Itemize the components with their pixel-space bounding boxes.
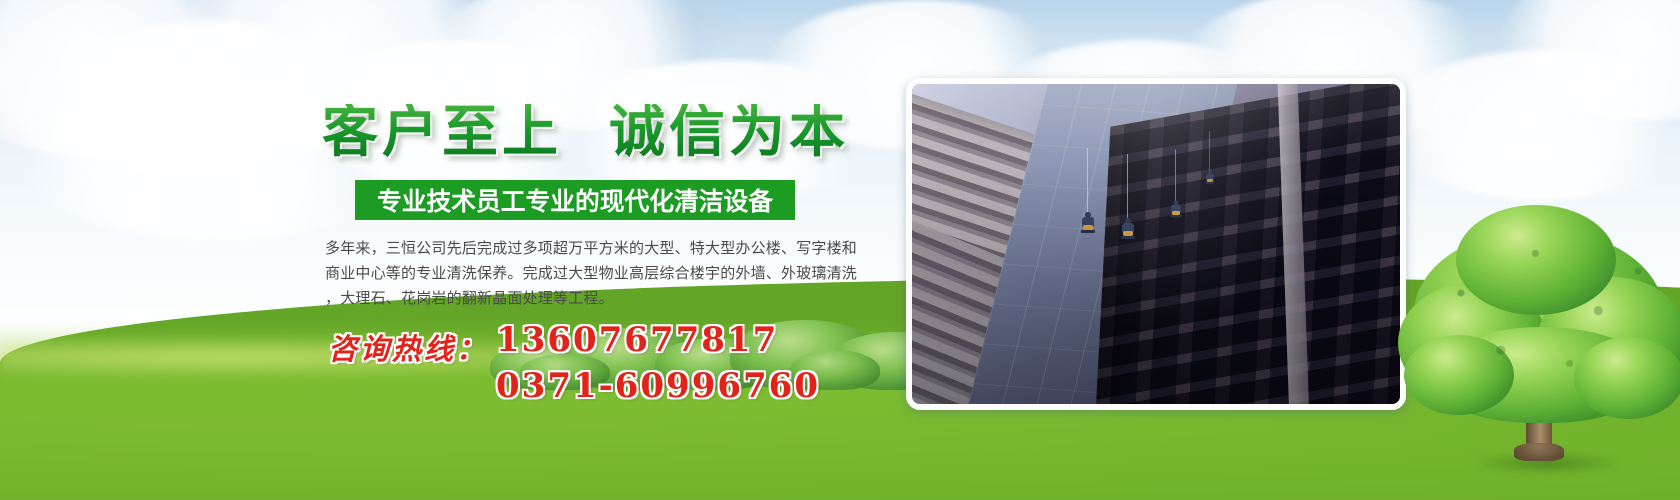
paragraph-line: 商业中心等的专业清洗保养。完成过大型物业高层综合楼宇的外墙、外玻璃清洗 bbox=[325, 261, 891, 286]
tree-canopy bbox=[1456, 205, 1616, 315]
paragraph-line: 多年来，三恒公司先后完成过多项超万平方米的大型、特大型办公楼、写字楼和 bbox=[325, 236, 891, 261]
hotline-number-landline[interactable]: 0371-60996760 bbox=[496, 366, 820, 406]
subtitle-bar: 专业技术员工专业的现代化清洁设备 bbox=[355, 180, 795, 220]
hotline-number-mobile[interactable]: 13607677817 bbox=[496, 320, 778, 360]
photo-shading bbox=[912, 84, 1400, 404]
tree-canopy bbox=[1404, 335, 1514, 415]
paragraph-line: ，大理石、花岗岩的翻新晶面处理等工程。 bbox=[325, 286, 891, 311]
promo-banner: 客户至上 诚信为本 专业技术员工专业的现代化清洁设备 多年来，三恒公司先后完成过… bbox=[0, 0, 1680, 500]
building-photo bbox=[912, 84, 1400, 404]
building-photo-frame bbox=[906, 78, 1406, 410]
banner-headline: 客户至上 诚信为本 bbox=[322, 104, 849, 160]
description-paragraph: 多年来，三恒公司先后完成过多项超万平方米的大型、特大型办公楼、写字楼和 商业中心… bbox=[325, 236, 891, 311]
big-tree bbox=[1398, 205, 1680, 473]
hotline-label: 咨询热线： bbox=[328, 326, 488, 368]
subtitle-text: 专业技术员工专业的现代化清洁设备 bbox=[377, 182, 773, 218]
tree-canopy bbox=[1574, 337, 1680, 419]
